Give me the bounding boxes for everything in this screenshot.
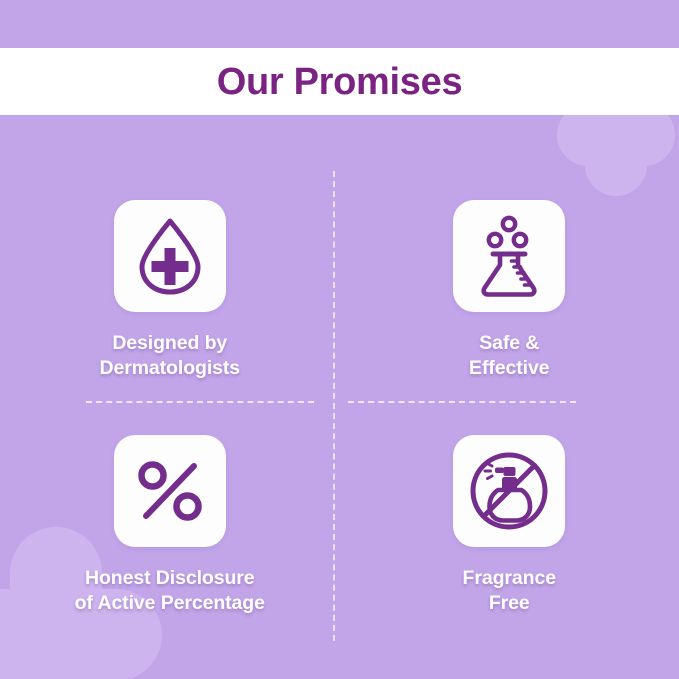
promise-label: Honest Disclosure of Active Percentage [75, 566, 265, 616]
promises-infographic: Our Promises Designed by Dermatologists [0, 0, 679, 679]
promise-item-designed-by-dermatologists: Designed by Dermatologists [0, 200, 340, 381]
promise-icon-card [114, 435, 226, 547]
no-fragrance-icon [468, 450, 550, 532]
promise-label: Designed by Dermatologists [99, 331, 240, 381]
promise-icon-card [114, 200, 226, 312]
promises-grid: Designed by Dermatologists Safe & Ef [0, 115, 679, 679]
promise-icon-card [453, 200, 565, 312]
promise-label: Safe & Effective [469, 331, 549, 381]
promise-icon-card [453, 435, 565, 547]
promise-item-safe-and-effective: Safe & Effective [340, 200, 679, 381]
promise-item-honest-disclosure: Honest Disclosure of Active Percentage [0, 435, 340, 616]
droplet-plus-icon [132, 216, 208, 296]
percent-icon [137, 460, 203, 522]
page-title: Our Promises [217, 63, 463, 101]
header-band: Our Promises [0, 48, 679, 115]
flask-bubbles-icon [471, 215, 547, 297]
promise-label: Fragrance Free [463, 566, 556, 616]
promise-item-fragrance-free: Fragrance Free [340, 435, 679, 616]
